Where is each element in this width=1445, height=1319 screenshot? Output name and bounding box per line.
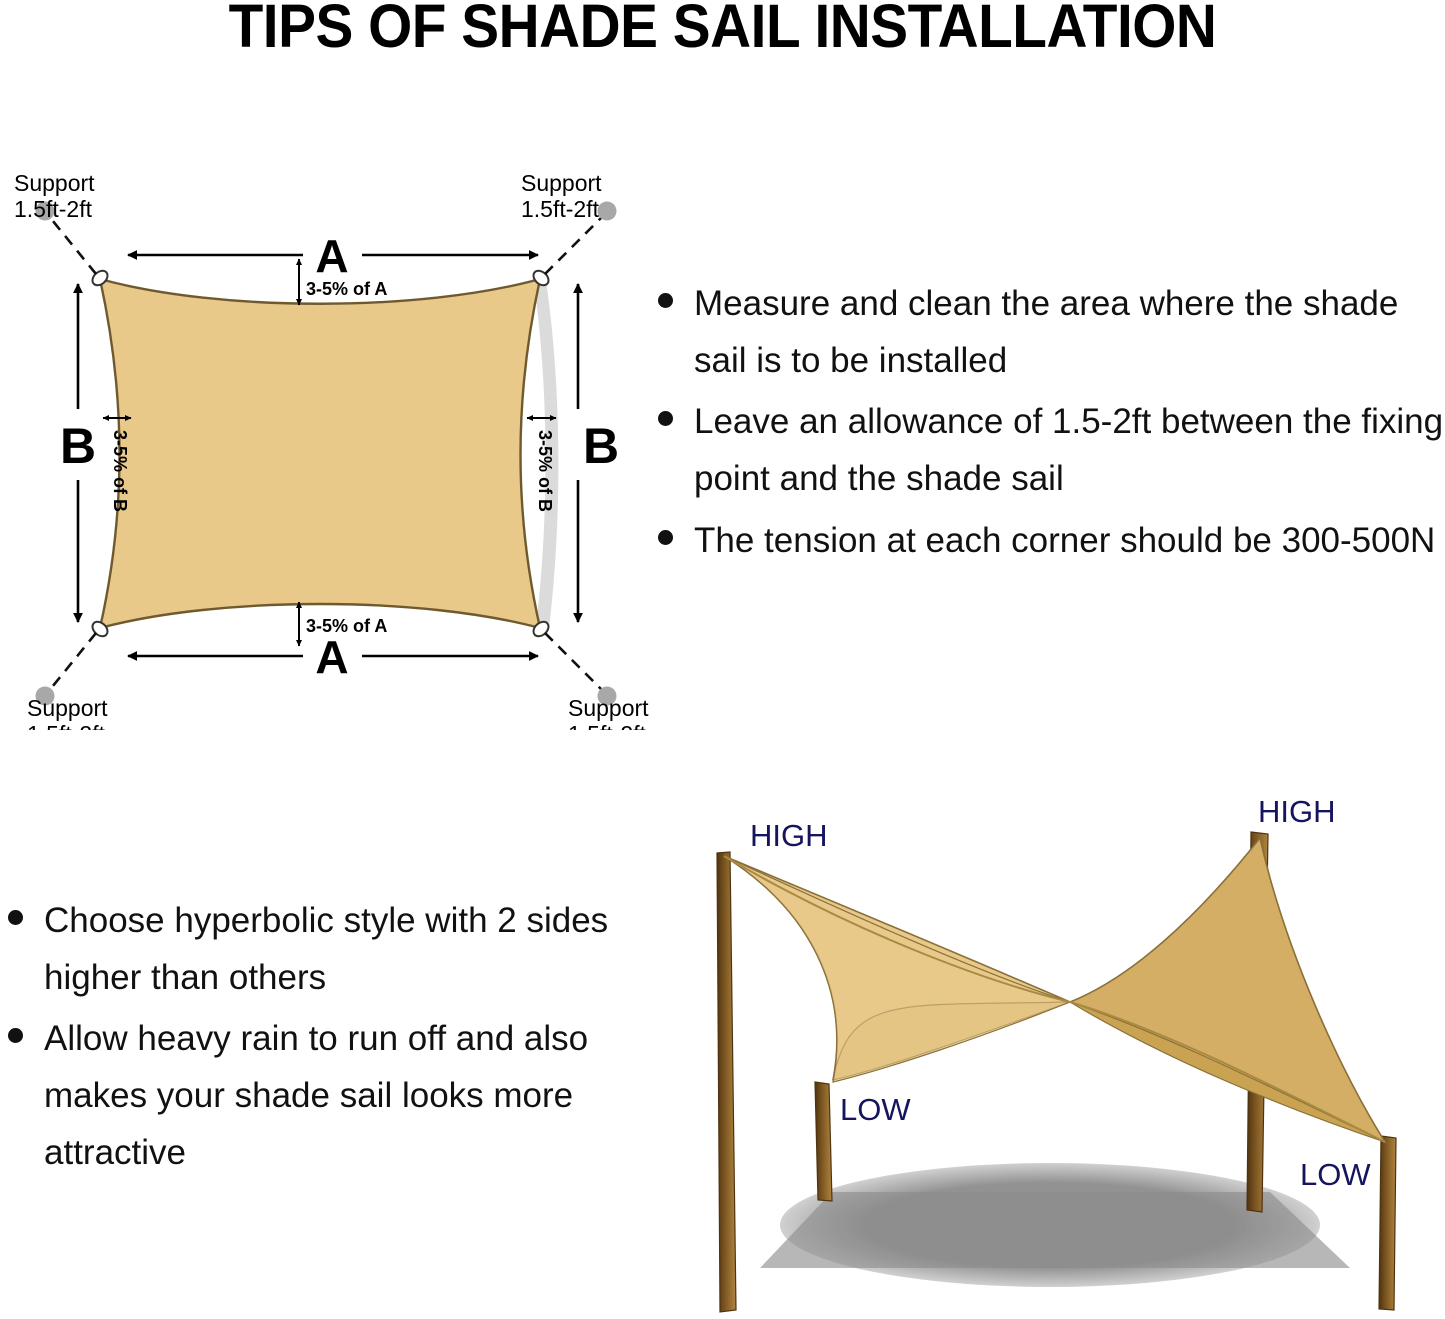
support-label-top-left-line2: 1.5ft-2ft <box>14 196 93 222</box>
tie-line-top-right <box>545 215 604 274</box>
label-low-right: LOW <box>1300 1157 1371 1192</box>
dimension-label-a-top: A <box>315 230 348 282</box>
support-label-bottom-left-line1: Support <box>27 695 108 721</box>
tip-item: Measure and clean the area where the sha… <box>650 276 1445 389</box>
dimension-label-b-right: B <box>583 418 619 474</box>
post-front-low <box>815 1082 832 1201</box>
tip-item: Choose hyperbolic style with 2 sides hig… <box>0 893 630 1006</box>
curvature-label-right: 3-5% of B <box>535 430 555 512</box>
support-label-top-right-line1: Support <box>521 170 602 196</box>
curvature-label-left: 3-5% of B <box>110 430 130 512</box>
tips-list-top: Measure and clean the area where the sha… <box>650 276 1445 574</box>
tip-item: The tension at each corner should be 300… <box>650 513 1445 570</box>
support-label-bottom-right-line2: 1.5ft-2ft <box>568 721 647 730</box>
tips-list-bottom: Choose hyperbolic style with 2 sides hig… <box>0 893 630 1186</box>
tip-item: Allow heavy rain to run off and also mak… <box>0 1011 630 1181</box>
infographic-page: TIPS OF SHADE SAIL INSTALLATION <box>0 0 1445 1319</box>
shade-sail-shape <box>100 279 540 628</box>
rectangular-sail-diagram: A 3-5% of A A 3-5% of A B 3-5% of B B <box>0 160 660 730</box>
curvature-label-top: 3-5% of A <box>306 279 387 299</box>
page-title: TIPS OF SHADE SAIL INSTALLATION <box>51 0 1395 57</box>
tie-line-bottom-right <box>545 633 604 692</box>
support-label-top-right-line2: 1.5ft-2ft <box>521 196 600 222</box>
post-right-low <box>1379 1136 1396 1310</box>
label-high-left: HIGH <box>750 818 828 853</box>
support-label-top-left-line1: Support <box>14 170 95 196</box>
curvature-label-bottom: 3-5% of A <box>306 616 387 636</box>
hyperbolic-sail-illustration: HIGH HIGH LOW LOW <box>650 780 1445 1319</box>
dimension-label-a-bottom: A <box>315 631 348 683</box>
post-left-high <box>717 852 736 1312</box>
sail-front-sweep <box>724 856 1070 1082</box>
support-label-bottom-right-line1: Support <box>568 695 649 721</box>
label-low-front: LOW <box>840 1092 911 1127</box>
dimension-label-b-left: B <box>60 418 96 474</box>
anchor-dot-top-right <box>598 202 617 221</box>
sail-panel-upper-right <box>1070 838 1385 1142</box>
tip-item: Leave an allowance of 1.5-2ft between th… <box>650 394 1445 507</box>
label-high-right: HIGH <box>1258 794 1336 829</box>
tie-line-bottom-left <box>48 633 96 692</box>
support-label-bottom-left-line2: 1.5ft-2ft <box>27 721 106 730</box>
tie-line-top-left <box>48 215 96 274</box>
